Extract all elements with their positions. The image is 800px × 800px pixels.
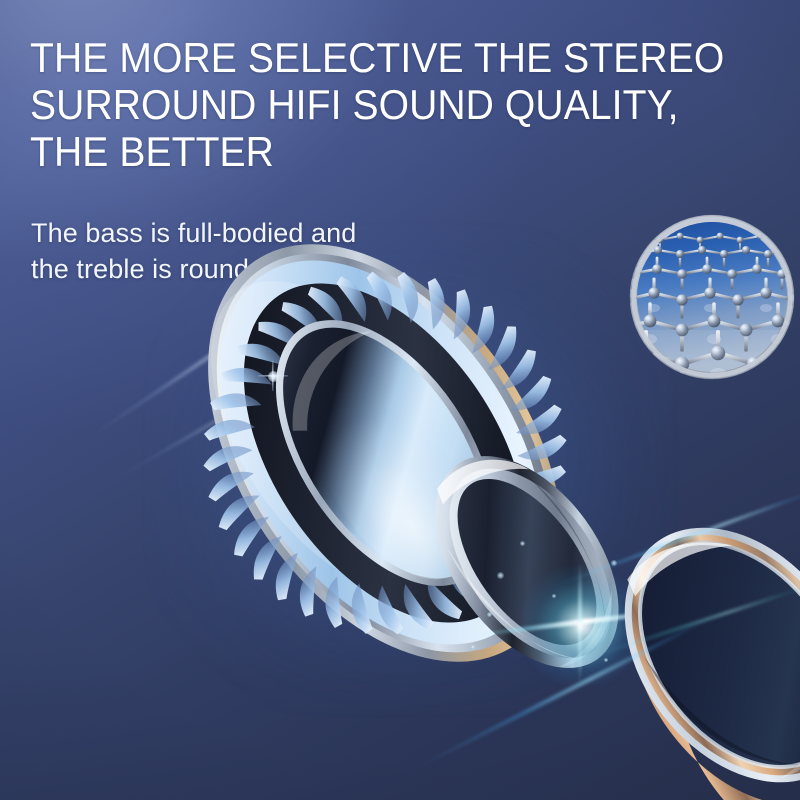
- headline: THE MORE SELECTIVE THE STEREO SURROUND H…: [30, 34, 729, 175]
- product-banner: THE MORE SELECTIVE THE STEREO SURROUND H…: [0, 0, 800, 800]
- graphene-lattice-inset: [620, 212, 800, 382]
- bokeh-particle: [471, 645, 475, 649]
- bokeh-particle: [520, 541, 525, 546]
- headline-line-2: SURROUND HIFI SOUND QUALITY,: [30, 81, 729, 128]
- bokeh-particle: [552, 594, 556, 598]
- bokeh-particle: [487, 612, 492, 617]
- copper-voice-coil-cylinder: [592, 505, 800, 800]
- sparkle-star-icon: [258, 361, 288, 391]
- headline-line-3: THE BETTER: [30, 128, 729, 175]
- headline-line-1: THE MORE SELECTIVE THE STEREO: [30, 34, 729, 81]
- bokeh-particle: [497, 572, 504, 579]
- lens-flare-vertical-ray: [578, 560, 582, 685]
